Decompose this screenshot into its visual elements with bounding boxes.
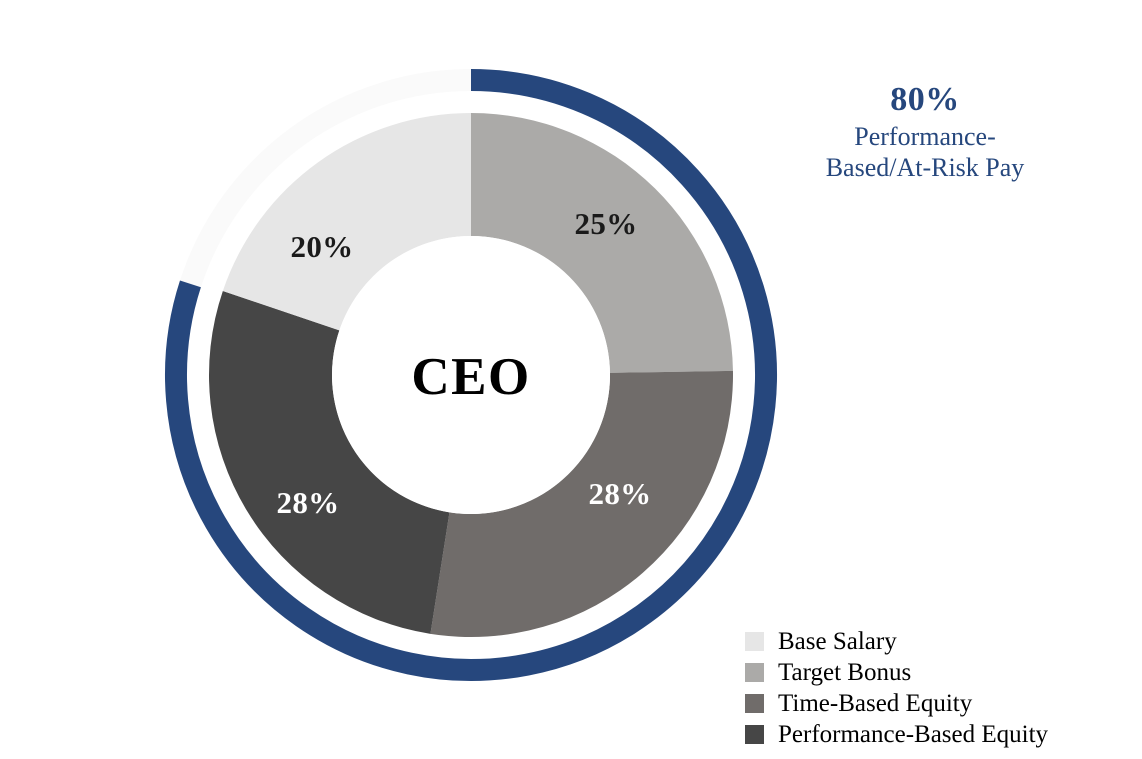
legend-swatch-icon: [745, 725, 764, 744]
legend-label: Target Bonus: [778, 660, 911, 685]
at-risk-pay-text: Performance-Based/At-Risk Pay: [825, 122, 1025, 182]
donut-center-label: CEO: [411, 347, 530, 407]
legend-label: Time-Based Equity: [778, 691, 972, 716]
legend-item[interactable]: Time-Based Equity: [745, 688, 1048, 719]
legend-swatch-icon: [745, 632, 764, 651]
legend-item[interactable]: Target Bonus: [745, 657, 1048, 688]
legend-label: Base Salary: [778, 629, 897, 654]
legend-swatch-icon: [745, 663, 764, 682]
chart-legend: Base SalaryTarget BonusTime-Based Equity…: [745, 626, 1048, 750]
legend-item[interactable]: Base Salary: [745, 626, 1048, 657]
at-risk-pay-value: 80%: [825, 80, 1025, 119]
legend-item[interactable]: Performance-Based Equity: [745, 719, 1048, 750]
legend-label: Performance-Based Equity: [778, 722, 1048, 747]
ceo-pay-mix-donut-chart: 20% 25% 28% 28% CEO 80% Performance-Base…: [0, 0, 1142, 759]
legend-swatch-icon: [745, 694, 764, 713]
at-risk-pay-annotation: 80% Performance-Based/At-Risk Pay: [825, 80, 1025, 183]
